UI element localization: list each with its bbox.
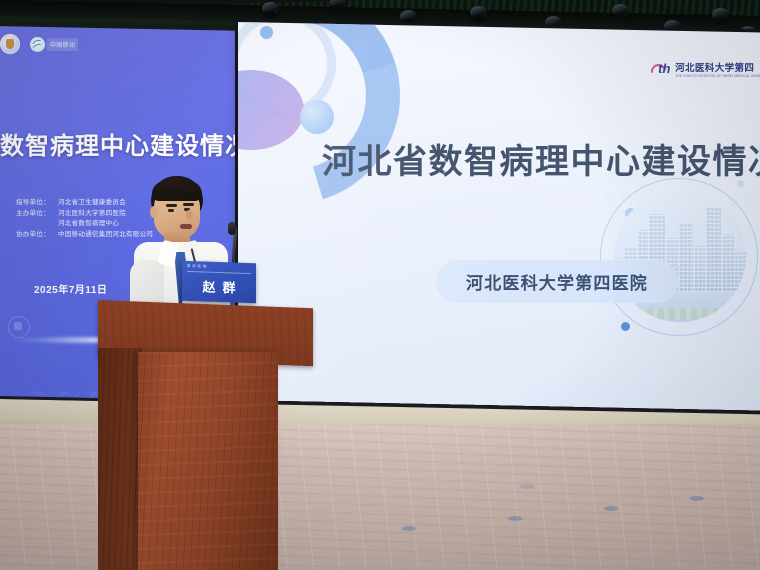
speaking-podium [98,300,313,570]
china-mobile-logo-icon: 中国移动 [30,37,78,52]
speaker-eye [168,209,174,212]
hospital-logo-name-cn: 河北医科大学第四 [675,64,760,74]
speaker-nameplate: 第 四 医 院 赵群 [182,261,256,304]
nameplate-name: 赵群 [182,276,256,298]
decorative-dot-small-icon [260,26,273,39]
podium-side-panel [98,348,142,570]
hospital-logo-mark-icon: th [651,62,671,80]
org-value: 河北医科大学第四医院 [58,209,126,220]
spotlight-icon [612,4,629,17]
left-screen-date: 2025年7月11日 [34,281,107,296]
floor-marker-icon [520,484,534,489]
spotlight-icon [400,10,417,23]
slide-title: 河北省数智病理中心建设情况 [322,134,760,183]
decorative-dot-medium-icon [300,100,334,134]
org-label: 协办单位： [16,230,58,241]
city-accent-dot-icon [621,322,630,331]
presentation-photo-scene: 中国移动 北省数智病理中心建设情况 指导单位：河北省卫生健康委员会 主办单位：河… [0,0,760,570]
speaker-hair-front [152,181,202,201]
org-label: 指导单位： [16,198,58,209]
spotlight-icon [712,8,729,21]
podium-front-panel [138,352,278,570]
floor-marker-icon [402,526,416,531]
speaker-nose [186,210,193,220]
hospital-logo: th 河北医科大学第四 THE FOURTH HOSPITAL OF HEBEI… [651,62,760,80]
china-mobile-label: 中国移动 [47,38,78,51]
spotlight-icon [545,16,562,29]
slide-subtitle-pill: 河北医科大学第四医院 [436,260,678,303]
speaker-mouth [180,224,192,229]
main-projection-screen: th 河北医科大学第四 THE FOURTH HOSPITAL OF HEBEI… [238,22,760,411]
hospital-emblem-logo-icon [0,34,20,54]
org-label: 主办单位： [16,209,58,220]
org-label [16,219,58,230]
left-screen-logos: 中国移动 [0,34,78,54]
floor-marker-icon [604,506,618,511]
microphone-head-icon [228,222,236,235]
nameplate-header: 第 四 医 院 [187,264,207,270]
slide-subtitle-text: 河北医科大学第四医院 [466,274,648,293]
speaker-ear [150,206,158,218]
org-value: 河北省卫生健康委员会 [58,198,126,209]
speaker-eyebrow [183,203,194,206]
org-value: 河北省数智病理中心 [58,219,119,230]
left-screen-title: 北省数智病理中心建设情况 [0,126,244,161]
hospital-logo-name-en: THE FOURTH HOSPITAL OF HEBEI MEDICAL UNI… [675,75,760,78]
floor-marker-icon [690,496,704,501]
spotlight-icon [470,6,487,19]
spotlight-icon [262,2,279,15]
floor-marker-icon [508,516,522,521]
city-accent-dot-icon [737,180,744,187]
logo-anniversary-number: th [658,62,670,75]
speaker-eyebrow [166,204,177,207]
